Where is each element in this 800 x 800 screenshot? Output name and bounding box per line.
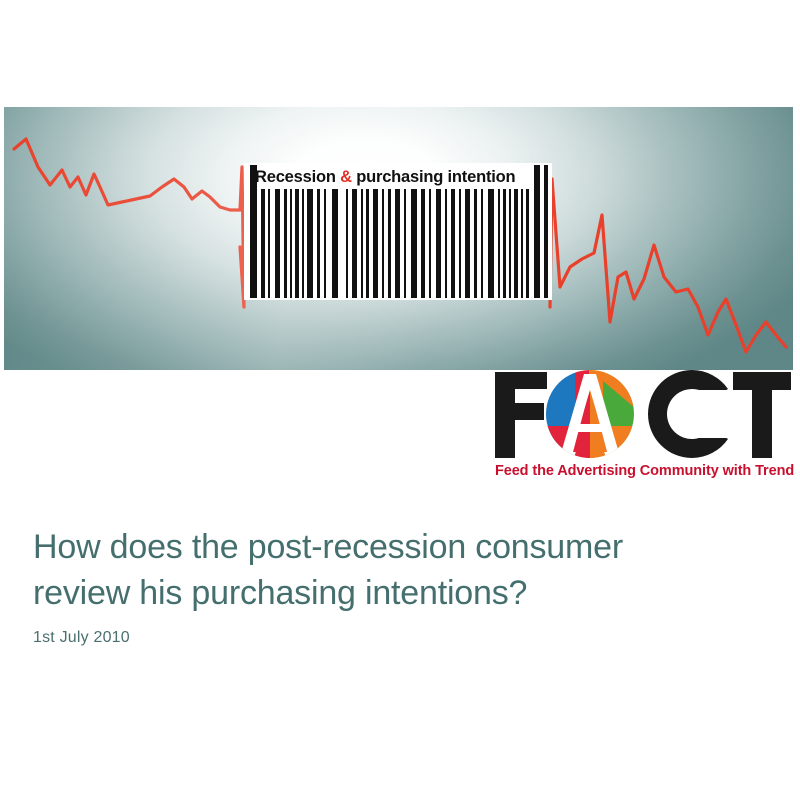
barcode-graphic: Recession & purchasing intention <box>244 163 552 300</box>
barcode-title-ampersand: & <box>340 168 352 186</box>
page-title-line-1: How does the post-recession consumer <box>33 524 763 570</box>
trend-line-left <box>14 139 240 210</box>
page-title: How does the post-recession consumer rev… <box>33 524 763 616</box>
logo-letter-f <box>495 372 547 458</box>
fact-logo: Feed the Advertising Community with Tren… <box>489 368 794 480</box>
barcode-title-part2: purchasing intention <box>352 168 516 186</box>
page-title-line-2: review his purchasing intentions? <box>33 570 763 616</box>
trend-line-right <box>550 179 786 352</box>
logo-letter-c <box>648 370 736 458</box>
publication-date: 1st July 2010 <box>33 629 130 647</box>
logo-letter-a-mark <box>546 370 635 460</box>
barcode-title-part1: Recession <box>255 168 340 186</box>
barcode-title: Recession & purchasing intention <box>255 165 536 189</box>
logo-letter-t <box>733 372 791 458</box>
logo-tagline: Feed the Advertising Community with Tren… <box>495 463 794 479</box>
